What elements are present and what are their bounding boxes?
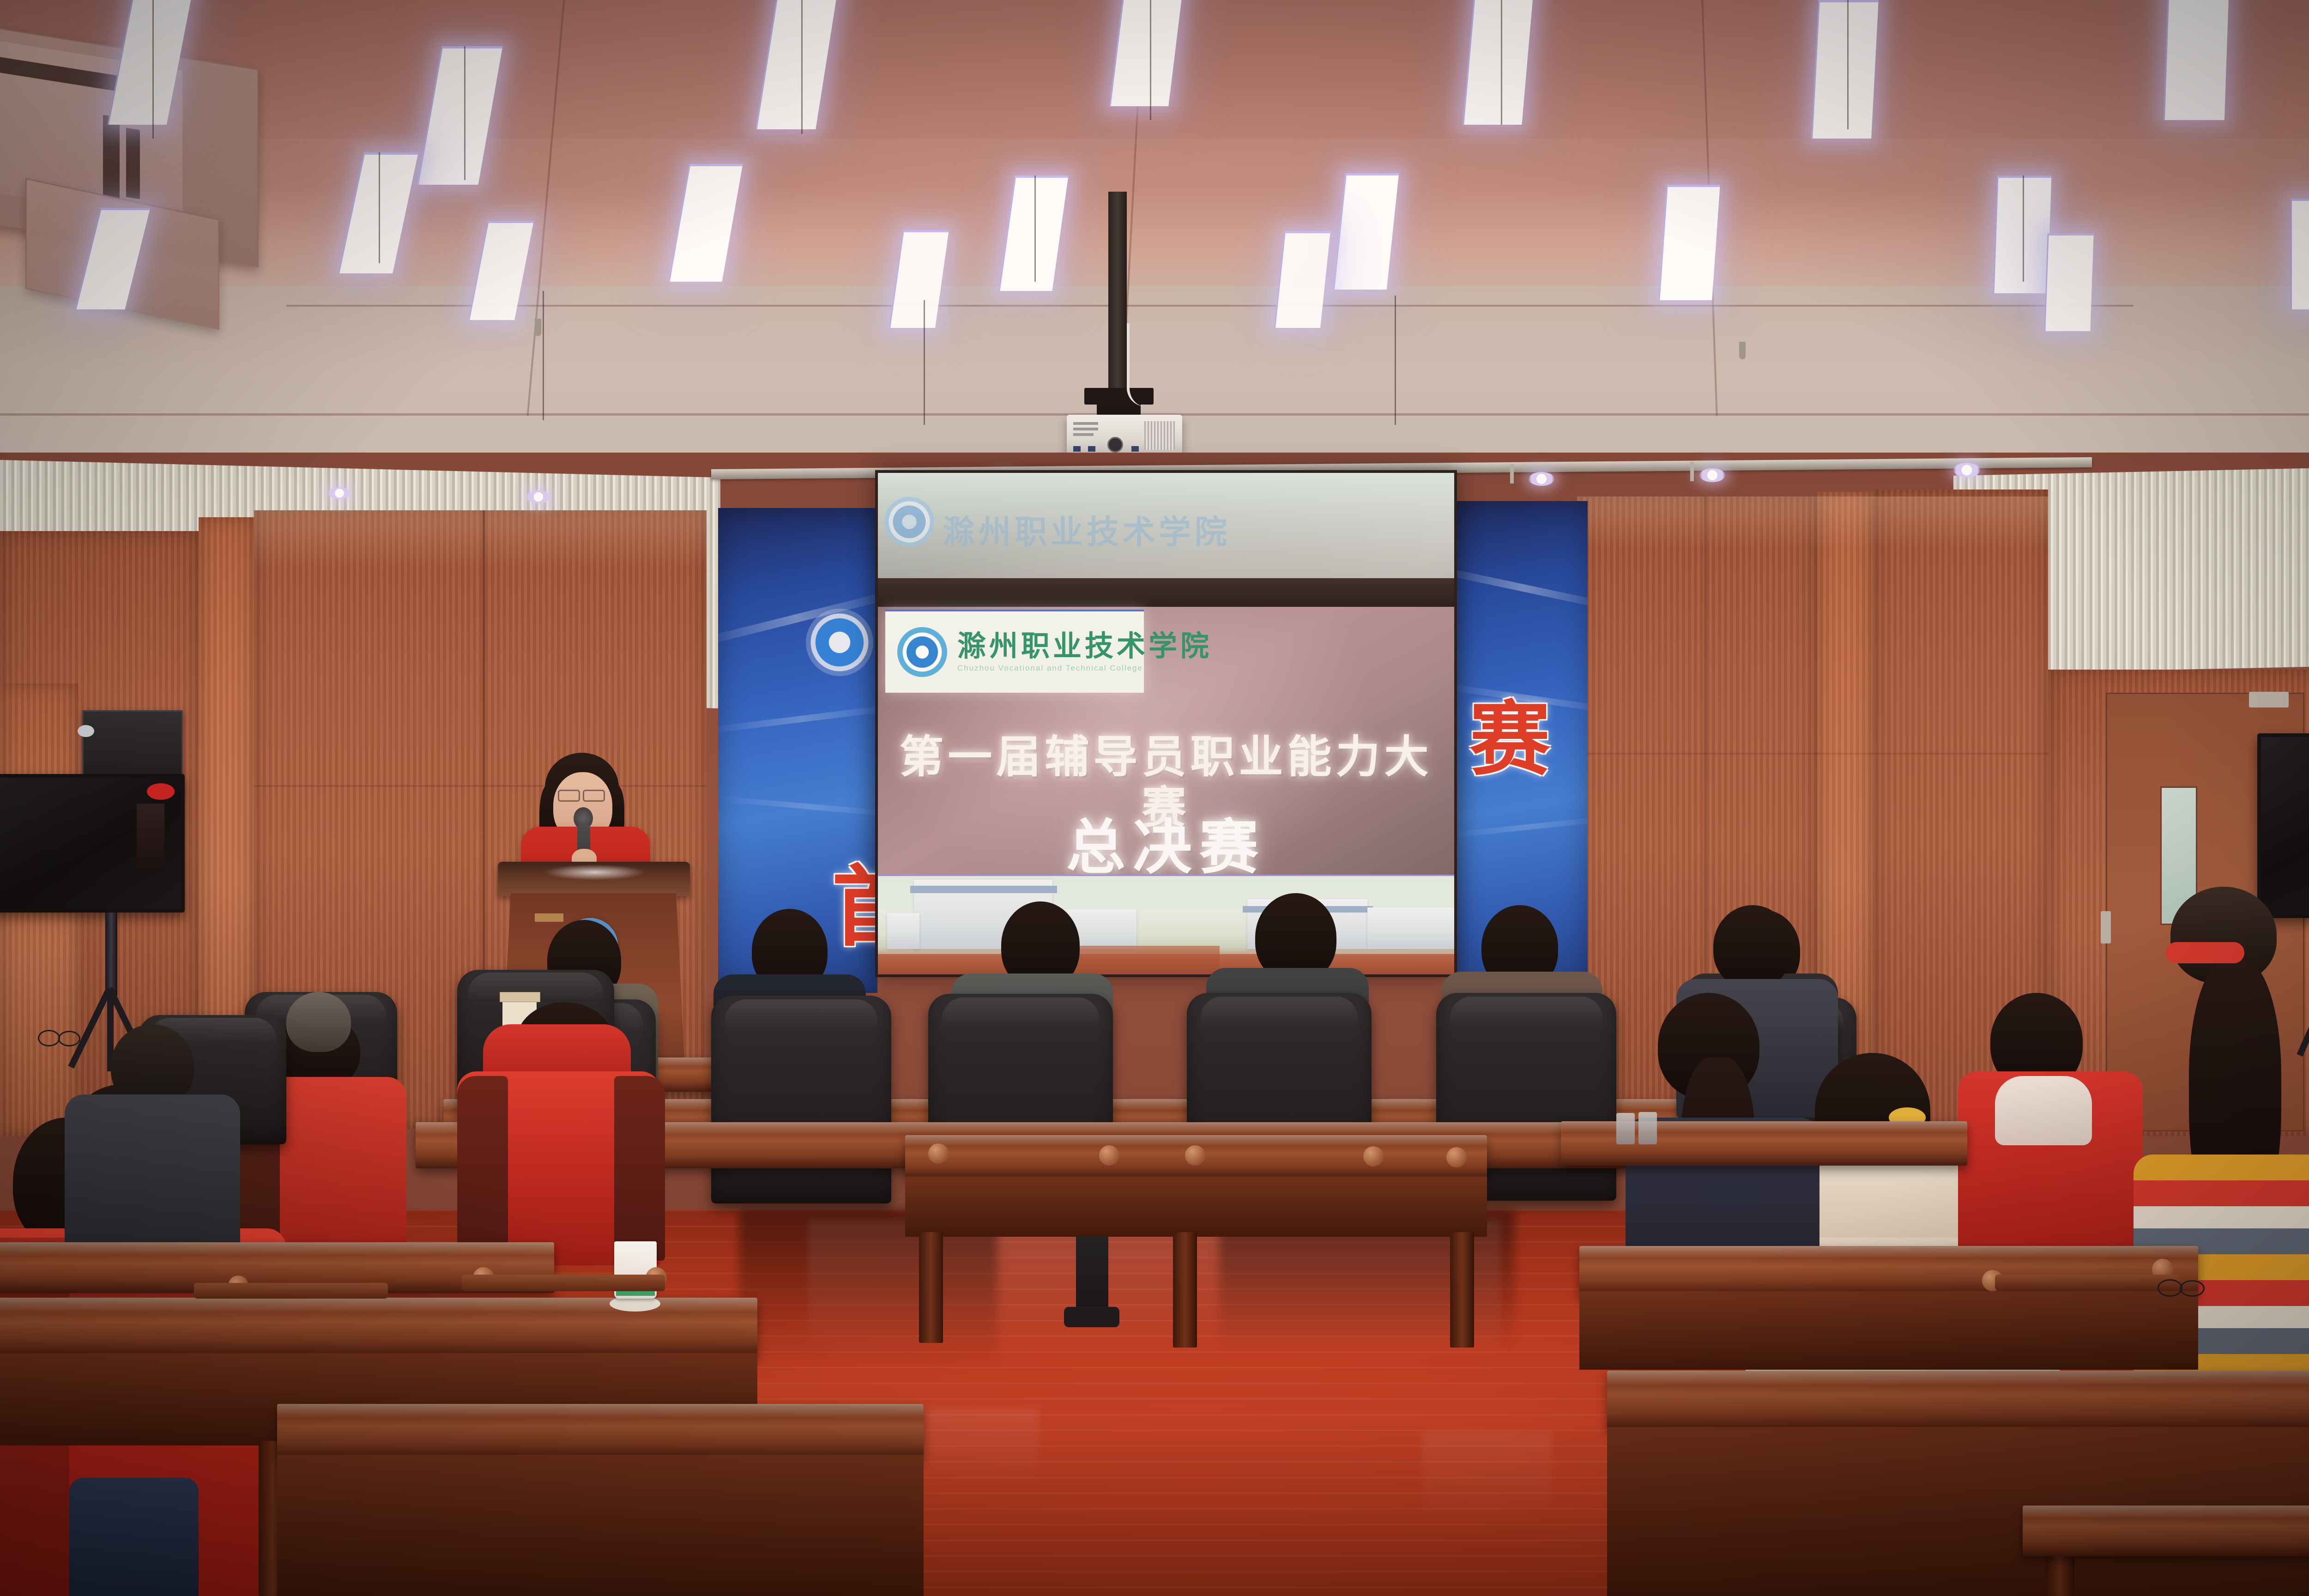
person-head [1713,905,1792,988]
desk-front-panel [1579,1291,2198,1370]
chair-armrest [194,1283,388,1299]
desk-front-panel [277,1455,924,1596]
banner-character-left: 首 [832,864,877,951]
ceiling-spotlight [1529,472,1554,486]
screen-reflection-band: 滁州职业技术学院 [878,473,1454,578]
chair-knob [1185,1145,1205,1166]
ceiling-spotlight [1699,468,1725,482]
speaker-bracket [78,725,94,737]
ceiling-light [1993,175,2052,293]
ceiling-spotlight [1953,463,1980,478]
desk-leg [919,1232,943,1343]
podium-gloss [544,864,646,880]
ceiling-light [1658,185,1720,300]
floor-reflection [1422,1432,1552,1524]
rail-hook [1690,462,1694,481]
ceiling-light [2164,0,2229,120]
projector-mount-plate [1097,404,1141,416]
ceiling-light [1811,0,1879,139]
chair-knob [1099,1145,1119,1166]
water-bottle[interactable] [1616,1113,1635,1144]
person-collar [1995,1076,2092,1145]
tv-display-left[interactable] [0,774,185,913]
ceiling-spotlight [328,487,351,499]
projector-pole [1108,192,1127,395]
eyeglasses [58,1031,80,1046]
hair-band [2166,942,2244,963]
ceiling-light [2291,199,2309,309]
slide-subtitle: 总决赛 [878,816,1454,880]
chair[interactable] [711,996,891,1203]
podium-nameplate [535,913,563,922]
person-pants [69,1478,199,1596]
water-bottle[interactable] [1638,1112,1657,1144]
desk-leg [1173,1232,1197,1348]
conference-hall-photo: 首 赛 滁州职业技术学院 滁州职业技术学院 Chuzhou Vocational… [0,0,2309,1596]
eyeglasses [2180,1280,2205,1297]
desk-leg [1450,1232,1474,1348]
desk-front-panel [905,1177,1487,1237]
ceiling-hook [1739,342,1746,359]
slide-logo-text-cn: 滁州职业技术学院 [957,630,1212,662]
person-head-grey [286,992,351,1052]
projection-screen: 滁州职业技术学院 滁州职业技术学院 Chuzhou Vocational and… [875,470,1457,977]
reflected-logo-text: 滁州职业技术学院 [943,506,1231,553]
ceiling-spotlight [526,490,550,503]
door-handle [2101,911,2111,943]
reflected-emblem [884,497,934,547]
chair-armrest [1995,1275,2180,1290]
presenter-glasses [558,790,580,802]
ceiling-light [1463,0,1533,125]
ceiling-seam [286,305,2134,307]
presenter-glasses [583,790,605,802]
chair-knob [1446,1147,1467,1167]
projector [1067,415,1182,459]
ceiling-light [2044,233,2093,331]
banner-emblem-left [806,609,873,676]
person-jacket-side [457,1076,508,1261]
banner-character-right: 赛 [1469,700,1550,780]
slide-logo-text-en: Chuzhou Vocational and Technical College [957,662,1212,674]
tv-stand-pole-left [105,913,117,996]
slide-logo-bar: 滁州职业技术学院 Chuzhou Vocational and Technica… [885,610,1144,693]
eyeglasses [2158,1279,2182,1297]
slide-campus-photo [878,875,1454,974]
rail-hook [1510,464,1514,484]
door-sign [2249,692,2289,707]
eyeglasses [38,1030,60,1046]
chair-knob [928,1143,949,1164]
tv-display-right[interactable] [2257,733,2309,918]
chair-armrest [462,1275,665,1291]
school-emblem-icon [897,627,947,677]
person-shoe [1064,1307,1119,1327]
ceiling-hook [535,319,541,336]
chair-knob [1363,1146,1384,1167]
person-jacket-side [614,1076,665,1261]
